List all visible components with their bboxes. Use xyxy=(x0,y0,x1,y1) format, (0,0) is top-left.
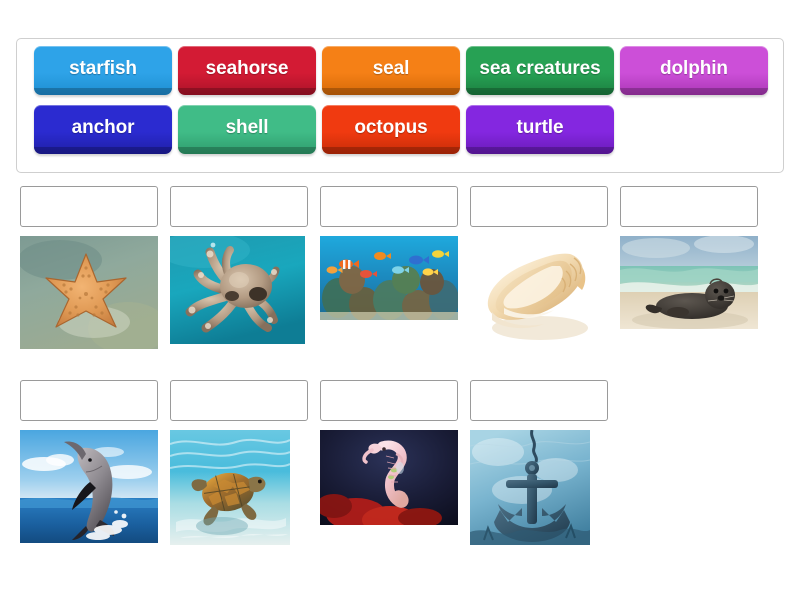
answer-slot-seahorse xyxy=(316,380,464,545)
answer-slot-starfish xyxy=(16,186,164,351)
word-tile-turtle[interactable]: turtle xyxy=(466,105,614,154)
word-tile-label: starfish xyxy=(69,58,137,80)
shell-photo xyxy=(470,236,608,346)
word-tile-shell[interactable]: shell xyxy=(178,105,316,154)
turtle-photo xyxy=(170,430,290,545)
word-tile-label: turtle xyxy=(517,117,564,139)
thumbnail-container xyxy=(20,236,158,351)
answer-row-2 xyxy=(16,380,784,545)
thumbnail-container xyxy=(320,430,458,545)
anchor-photo xyxy=(470,430,590,545)
word-tile-label: shell xyxy=(226,117,269,139)
word-tile-sea-creatures[interactable]: sea creatures xyxy=(466,46,614,95)
seal-photo xyxy=(620,236,758,329)
dolphin-photo xyxy=(20,430,158,543)
answer-slot-shell xyxy=(466,186,614,351)
word-bank-row: starfish seahorse seal sea creatures dol… xyxy=(17,46,783,105)
thumbnail-container xyxy=(170,236,308,351)
sea-creatures-photo xyxy=(320,236,458,320)
word-tile-starfish[interactable]: starfish xyxy=(34,46,172,95)
word-tile-label: anchor xyxy=(72,117,135,139)
thumbnail-container xyxy=(20,430,158,545)
word-tile-label: dolphin xyxy=(660,58,728,80)
drop-zone[interactable] xyxy=(470,380,608,421)
thumbnail-container xyxy=(320,236,458,351)
drop-zone[interactable] xyxy=(620,186,758,227)
word-tile-label: octopus xyxy=(354,117,427,139)
octopus-photo xyxy=(170,236,305,344)
thumbnail-container xyxy=(470,236,608,351)
thumbnail-container xyxy=(170,430,308,545)
word-tile-octopus[interactable]: octopus xyxy=(322,105,460,154)
drop-zone[interactable] xyxy=(170,380,308,421)
word-tile-seal[interactable]: seal xyxy=(322,46,460,95)
drop-zone[interactable] xyxy=(320,186,458,227)
answer-slot-seal xyxy=(616,186,764,351)
drop-zone[interactable] xyxy=(170,186,308,227)
thumbnail-container xyxy=(470,430,608,545)
activity-page: starfish seahorse seal sea creatures dol… xyxy=(0,0,800,600)
seahorse-photo xyxy=(320,430,458,525)
answer-slot-dolphin xyxy=(16,380,164,545)
answer-row-1 xyxy=(16,186,784,351)
drop-zone[interactable] xyxy=(470,186,608,227)
answer-slot-octopus xyxy=(166,186,314,351)
word-bank-row: anchor shell octopus turtle xyxy=(17,105,783,164)
word-tile-seahorse[interactable]: seahorse xyxy=(178,46,316,95)
drop-zone[interactable] xyxy=(20,380,158,421)
answer-slot-turtle xyxy=(166,380,314,545)
thumbnail-container xyxy=(620,236,758,351)
starfish-photo xyxy=(20,236,158,349)
word-tile-label: seal xyxy=(373,58,410,80)
drop-zone[interactable] xyxy=(20,186,158,227)
word-tile-label: sea creatures xyxy=(479,58,600,80)
word-tile-anchor[interactable]: anchor xyxy=(34,105,172,154)
answer-slot-sea-creatures xyxy=(316,186,464,351)
word-bank: starfish seahorse seal sea creatures dol… xyxy=(16,38,784,173)
word-tile-label: seahorse xyxy=(206,58,289,80)
word-tile-dolphin[interactable]: dolphin xyxy=(620,46,768,95)
answer-slot-anchor xyxy=(466,380,614,545)
drop-zone[interactable] xyxy=(320,380,458,421)
